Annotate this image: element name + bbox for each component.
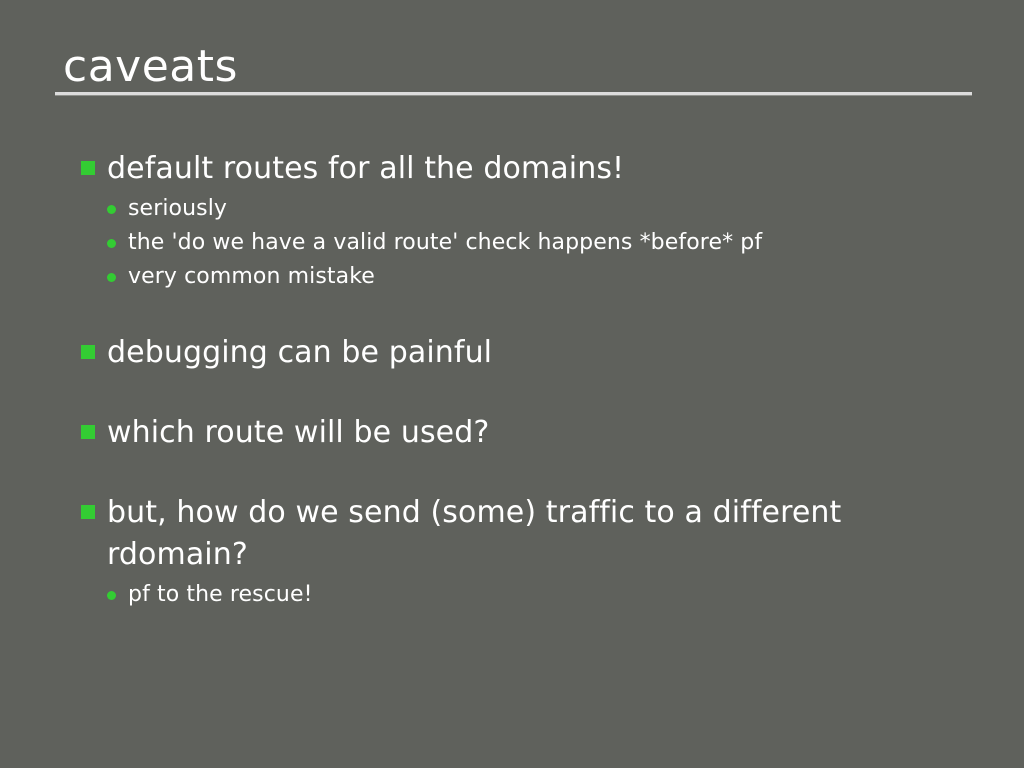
- square-bullet-icon: [81, 161, 95, 175]
- dot-bullet-icon: [107, 273, 116, 282]
- sub-bullet-text: the 'do we have a valid route' check hap…: [128, 230, 762, 255]
- dot-bullet-icon: [107, 239, 116, 248]
- bullet-group: debugging can be painful: [0, 332, 1024, 374]
- bullet-item-level1: debugging can be painful: [0, 332, 1024, 374]
- square-bullet-icon: [81, 505, 95, 519]
- title-divider: [55, 92, 972, 96]
- bullet-item-level1: default routes for all the domains!: [0, 148, 1024, 190]
- bullet-text: default routes for all the domains!: [107, 151, 624, 186]
- sub-bullet-list: pf to the rescue!: [0, 578, 1024, 612]
- square-bullet-icon: [81, 425, 95, 439]
- sub-bullet-list: seriously the 'do we have a valid route'…: [0, 192, 1024, 294]
- square-bullet-icon: [81, 345, 95, 359]
- bullet-item-level2: the 'do we have a valid route' check hap…: [0, 226, 1024, 260]
- bullet-group: which route will be used?: [0, 412, 1024, 454]
- dot-bullet-icon: [107, 591, 116, 600]
- bullet-item-level2: very common mistake: [0, 260, 1024, 294]
- presentation-slide: caveats default routes for all the domai…: [0, 0, 1024, 768]
- sub-bullet-text: pf to the rescue!: [128, 582, 313, 607]
- sub-bullet-text: seriously: [128, 196, 227, 221]
- dot-bullet-icon: [107, 205, 116, 214]
- bullet-group: default routes for all the domains! seri…: [0, 148, 1024, 294]
- sub-bullet-text: very common mistake: [128, 264, 375, 289]
- bullet-item-level1: but, how do we send (some) traffic to a …: [0, 492, 1024, 576]
- slide-body: default routes for all the domains! seri…: [0, 148, 1024, 612]
- page-title: caveats: [63, 42, 238, 92]
- bullet-item-level1: which route will be used?: [0, 412, 1024, 454]
- bullet-item-level2: seriously: [0, 192, 1024, 226]
- bullet-item-level2: pf to the rescue!: [0, 578, 1024, 612]
- bullet-group: but, how do we send (some) traffic to a …: [0, 492, 1024, 612]
- bullet-text: but, how do we send (some) traffic to a …: [107, 495, 841, 572]
- bullet-text: debugging can be painful: [107, 335, 492, 370]
- bullet-text: which route will be used?: [107, 415, 489, 450]
